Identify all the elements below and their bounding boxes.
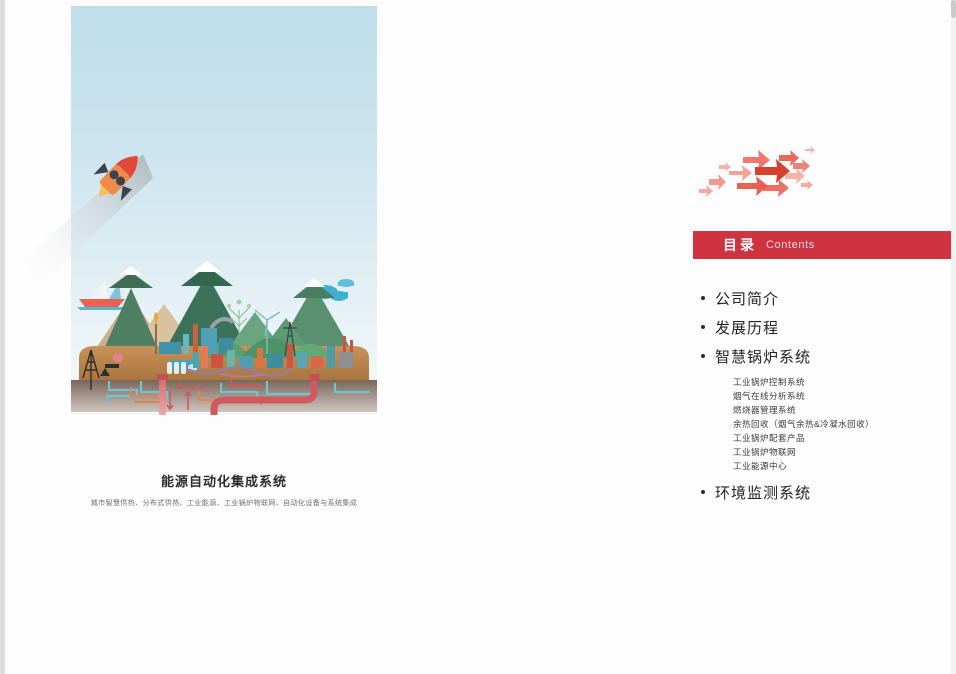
cloud-icon-3	[338, 279, 354, 287]
contents-list: 公司简介发展历程智慧锅炉系统工业锅炉控制系统烟气在线分析系统燃烧器管理系统余热回…	[701, 288, 955, 511]
contents-item-label: 公司简介	[715, 288, 779, 309]
bullet-icon	[701, 296, 705, 300]
arrow-cluster-logo	[693, 143, 821, 205]
contents-subitem[interactable]: 工业能源中心	[733, 459, 955, 473]
contents-subitem[interactable]: 余热回收（烟气余热&冷凝水回收）	[733, 417, 955, 431]
contents-subitem[interactable]: 工业锅炉控制系统	[733, 375, 955, 389]
bullet-icon	[701, 325, 705, 329]
contents-subitem[interactable]: 工业锅炉物联网	[733, 445, 955, 459]
contents-subitem[interactable]: 燃烧器管理系统	[733, 403, 955, 417]
contents-panel: 目录 Contents 公司简介发展历程智慧锅炉系统工业锅炉控制系统烟气在线分析…	[693, 0, 955, 674]
bullet-icon	[701, 354, 705, 358]
contents-item-label: 智慧锅炉系统	[715, 346, 811, 367]
contents-title-en: Contents	[766, 239, 815, 251]
page-scrollbar-thumb[interactable]	[951, 0, 956, 18]
poster-panel: 能源自动化集成系统 城市智慧供热、分布式供热、工业能源、工业锅炉物联网、自动化设…	[20, 0, 380, 560]
contents-item-label: 环境监测系统	[715, 482, 811, 503]
contents-subitem[interactable]: 烟气在线分析系统	[733, 389, 955, 403]
contents-subitem[interactable]: 工业锅炉配套产品	[733, 431, 955, 445]
contents-item[interactable]: 环境监测系统	[701, 482, 955, 503]
poster-title: 能源自动化集成系统	[71, 471, 377, 490]
energy-landscape-illustration	[71, 6, 377, 415]
contents-item[interactable]: 公司简介	[701, 288, 955, 309]
contents-title-cn: 目录	[723, 235, 757, 255]
contents-item[interactable]: 发展历程	[701, 317, 955, 338]
contents-item-label: 发展历程	[715, 317, 779, 338]
illustration-svg	[71, 6, 377, 415]
page-scrollbar[interactable]	[951, 0, 956, 674]
contents-item[interactable]: 智慧锅炉系统	[701, 346, 955, 367]
bullet-icon	[701, 490, 705, 494]
illustration-canvas	[71, 6, 377, 415]
poster-subtitle: 城市智慧供热、分布式供热、工业能源、工业锅炉物联网、自动化设备与系统集成	[51, 498, 397, 508]
contents-banner: 目录 Contents	[693, 231, 953, 259]
contents-subitem-group: 工业锅炉控制系统烟气在线分析系统燃烧器管理系统余热回收（烟气余热&冷凝水回收）工…	[733, 375, 955, 473]
